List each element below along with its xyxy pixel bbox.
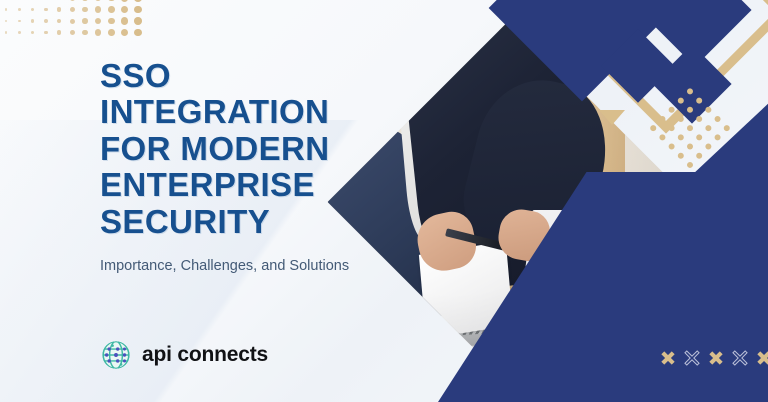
brand-name: api connects [142, 343, 268, 367]
x-mark-solid [756, 350, 768, 366]
subtitle: Importance, Challenges, and Solutions [100, 256, 350, 278]
x-mark-outline [684, 350, 700, 366]
brand-logo[interactable]: api connects [99, 338, 268, 372]
page-title-line-1: SSO [100, 58, 400, 94]
x-mark-solid [660, 350, 676, 366]
globe-network-icon [99, 338, 133, 372]
x-mark-outline [732, 350, 748, 366]
page-title-line-2: INTEGRATION [100, 94, 400, 130]
page-title-line-5: SECURITY [100, 204, 400, 240]
text-column: SSOINTEGRATIONFOR MODERNENTERPRISESECURI… [100, 58, 400, 278]
x-mark-solid [708, 350, 724, 366]
page-title-line-4: ENTERPRISE [100, 167, 400, 203]
dot-grid-icon [0, 0, 150, 36]
page-title: SSOINTEGRATIONFOR MODERNENTERPRISESECURI… [100, 58, 400, 240]
page-title-line-3: FOR MODERN [100, 131, 400, 167]
x-marks-row-icon [660, 350, 768, 366]
blog-banner: SSOINTEGRATIONFOR MODERNENTERPRISESECURI… [0, 0, 768, 402]
triangle-down-icon [599, 110, 625, 125]
